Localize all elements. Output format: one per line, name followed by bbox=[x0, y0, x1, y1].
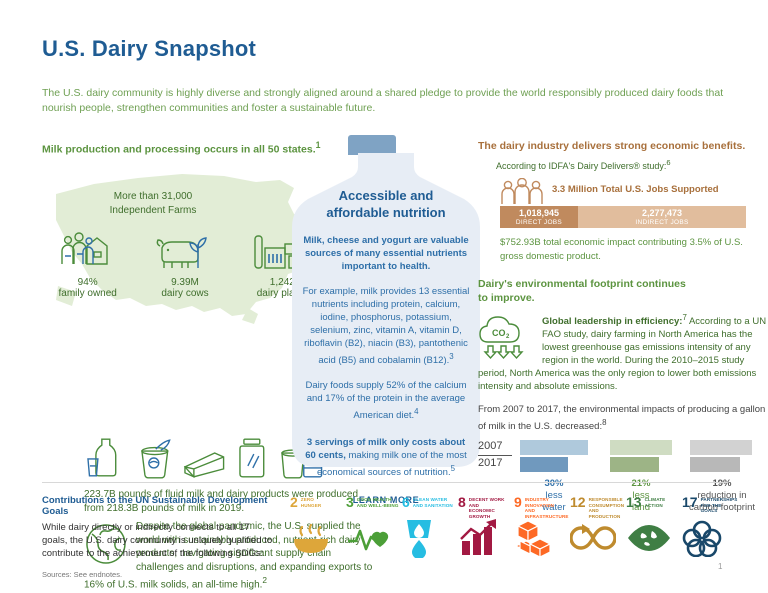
jug-paragraph-4: 3 servings of milk only costs about 60 c… bbox=[302, 436, 470, 479]
sdg-label-l1: GOOD HEALTH bbox=[357, 497, 392, 502]
sdg-label-l1: CLIMATE bbox=[645, 497, 666, 502]
chart-bar-2017-land bbox=[610, 457, 659, 472]
left-heading-text: Milk production and processing occurs in… bbox=[42, 144, 316, 156]
chart-group-water bbox=[520, 440, 588, 472]
chart-bar-2007-water bbox=[520, 440, 588, 455]
sdg-item-2[interactable]: 2 ZERO HUNGER bbox=[290, 496, 346, 558]
environment-heading: Dairy's environmental footprint continue… bbox=[478, 277, 768, 305]
sdg-item-13[interactable]: 13 CLIMATE ACTION bbox=[626, 496, 682, 558]
sdg-number: 12 bbox=[570, 496, 586, 509]
page-number: 1 bbox=[718, 562, 722, 571]
sdg-head: 13 CLIMATE ACTION bbox=[626, 496, 682, 514]
sdg-label-l2: HUNGER bbox=[301, 503, 322, 508]
sdg-item-9[interactable]: 9 INDUSTRY INNOVATION AND INFRASTRUCTURE bbox=[514, 496, 570, 558]
jobs-bar-indirect: 2,277,473 INDIRECT JOBS bbox=[578, 206, 746, 228]
farm-family-icon bbox=[50, 228, 125, 274]
jobs-total-row: 3.3 Million Total U.S. Jobs Supported bbox=[500, 180, 768, 202]
farm-stat-value: 9.39M bbox=[147, 277, 222, 288]
economic-subnote: According to IDFA's Dairy Delivers® stud… bbox=[496, 158, 768, 171]
sdg-label-l2: AND WELL-BEING bbox=[357, 503, 399, 508]
jug-heading-line2: affordable nutrition bbox=[326, 205, 445, 220]
people-group-icon bbox=[500, 178, 548, 204]
jug-cap-icon bbox=[348, 135, 396, 155]
sdg-head: 6 CLEAN WATER AND SANITATION bbox=[402, 496, 458, 514]
farm-stats-row: 94% family owned bbox=[50, 228, 320, 299]
sources-note: Sources: See endnotes. bbox=[42, 570, 274, 579]
farm-stat-label: family owned bbox=[50, 288, 125, 299]
us-map-block: More than 31,000 Independent Farms bbox=[42, 166, 330, 341]
sdg-label-l2: AND INFRASTRUCTURE bbox=[525, 508, 569, 519]
sdg-number: 2 bbox=[290, 496, 298, 509]
bowl-steam-icon bbox=[290, 518, 346, 558]
sdg-label-l2: AND PRODUCTION bbox=[589, 508, 621, 519]
sdg-item-17[interactable]: 17 PARTNERSHIPS FOR THE GOALS bbox=[682, 496, 738, 558]
chart-bar-2007-carbon bbox=[690, 440, 752, 455]
sdg-item-8[interactable]: 8 DECENT WORK AND ECONOMIC GROWTH bbox=[458, 496, 514, 558]
footer-heading: Contributions to the UN Sustainable Deve… bbox=[42, 495, 274, 517]
sdg-label-l1: INDUSTRY INNOVATION bbox=[525, 497, 554, 508]
environment-paragraph: CO 2 Global leadership in efficiency:7 A… bbox=[478, 311, 768, 393]
map-caption: More than 31,000 Independent Farms bbox=[78, 190, 228, 218]
jug-paragraph-4-sup: 5 bbox=[451, 464, 455, 473]
environment-heading-line1: Dairy's environmental footprint continue… bbox=[478, 278, 686, 290]
cheese-wedge-icon bbox=[181, 435, 227, 481]
farm-stat-label: dairy cows bbox=[147, 288, 222, 299]
cubes-icon bbox=[514, 518, 570, 558]
sdg-label: RESPONSIBLE CONSUMPTION AND PRODUCTION bbox=[589, 496, 626, 519]
chart-bar-2017-water bbox=[520, 457, 568, 472]
chart-title-sup: 8 bbox=[602, 418, 606, 427]
jug-paragraph-2-text: For example, milk provides 13 essential … bbox=[303, 286, 470, 366]
infographic-page: U.S. Dairy Snapshot The U.S. dairy commu… bbox=[0, 0, 768, 593]
left-column: Milk production and processing occurs in… bbox=[42, 140, 330, 341]
svg-text:2: 2 bbox=[506, 334, 510, 340]
intro-paragraph: The U.S. dairy community is highly diver… bbox=[42, 86, 730, 116]
economic-subnote-text: According to IDFA's Dairy Delivers® stud… bbox=[496, 161, 666, 171]
sdg-label-l1: RESPONSIBLE CONSUMPTION bbox=[589, 497, 625, 508]
jug-paragraph-2: For example, milk provides 13 essential … bbox=[302, 285, 470, 367]
left-heading: Milk production and processing occurs in… bbox=[42, 140, 330, 156]
chart-title: From 2007 to 2017, the environmental imp… bbox=[478, 403, 768, 433]
chart-pct-water: 30% bbox=[520, 478, 588, 490]
sdg-label-l2: ACTION bbox=[645, 503, 663, 508]
map-caption-line2: Independent Farms bbox=[110, 205, 197, 216]
footer-text: While dairy directly or indirectly conne… bbox=[42, 521, 274, 560]
milk-bottle-icon bbox=[86, 435, 126, 481]
jobs-direct-number: 1,018,945 bbox=[519, 208, 559, 218]
chart-bar-2017-carbon bbox=[690, 457, 740, 472]
water-glass-icon bbox=[402, 518, 458, 558]
sdg-label: ZERO HUNGER bbox=[301, 496, 322, 508]
jug-paragraph-1: Milk, cheese and yogurt are valuable sou… bbox=[302, 234, 470, 273]
growth-chart-icon bbox=[458, 518, 514, 558]
infinity-icon bbox=[570, 518, 626, 558]
economic-subnote-sup: 6 bbox=[666, 158, 670, 167]
sdg-label: GOOD HEALTH AND WELL-BEING bbox=[357, 496, 399, 508]
chart-year-divider bbox=[478, 455, 512, 456]
yogurt-cup-icon bbox=[134, 435, 174, 481]
heartbeat-icon bbox=[346, 518, 402, 558]
chart-year-2017: 2017 bbox=[478, 457, 502, 469]
sdg-label-l1: DECENT WORK AND bbox=[469, 497, 505, 508]
sdg-item-6[interactable]: 6 CLEAN WATER AND SANITATION bbox=[402, 496, 458, 558]
sdg-number: 13 bbox=[626, 496, 642, 509]
co2-cloud-icon: CO 2 bbox=[478, 312, 534, 360]
sdg-head: 8 DECENT WORK AND ECONOMIC GROWTH bbox=[458, 496, 514, 514]
jobs-indirect-caption: INDIRECT JOBS bbox=[635, 218, 688, 227]
jobs-bar-direct: 1,018,945 DIRECT JOBS bbox=[500, 206, 578, 228]
chart-title-text: From 2007 to 2017, the environmental imp… bbox=[478, 404, 765, 432]
sdg-label: CLEAN WATER AND SANITATION bbox=[413, 496, 453, 508]
jobs-indirect-number: 2,277,473 bbox=[642, 208, 682, 218]
right-column: The dairy industry delivers strong econo… bbox=[478, 140, 768, 512]
jug-paragraph-3: Dairy foods supply 52% of the calcium an… bbox=[302, 379, 470, 422]
sdg-number: 3 bbox=[346, 496, 354, 509]
footer-left: Contributions to the UN Sustainable Deve… bbox=[42, 495, 274, 579]
svg-text:CO: CO bbox=[492, 328, 506, 338]
sdg-number: 17 bbox=[682, 496, 698, 509]
dairy-products-icon-row bbox=[86, 435, 326, 481]
sdg-label: CLIMATE ACTION bbox=[645, 496, 666, 508]
sdg-head: 3 GOOD HEALTH AND WELL-BEING bbox=[346, 496, 402, 514]
eye-globe-icon bbox=[626, 518, 682, 558]
sdg-item-3[interactable]: 3 GOOD HEALTH AND WELL-BEING bbox=[346, 496, 402, 558]
chart-group-carbon bbox=[690, 440, 752, 472]
jobs-direct-caption: DIRECT JOBS bbox=[516, 218, 562, 227]
economic-heading: The dairy industry delivers strong econo… bbox=[478, 140, 768, 152]
sdg-head: 12 RESPONSIBLE CONSUMPTION AND PRODUCTIO… bbox=[570, 496, 626, 514]
sdg-item-12[interactable]: 12 RESPONSIBLE CONSUMPTION AND PRODUCTIO… bbox=[570, 496, 626, 558]
protein-jar-icon bbox=[235, 435, 271, 481]
sdg-label: DECENT WORK AND ECONOMIC GROWTH bbox=[469, 496, 514, 519]
jug-heading: Accessible and affordable nutrition bbox=[302, 187, 470, 221]
environment-heading-line2: to improve. bbox=[478, 292, 535, 304]
sdg-label: INDUSTRY INNOVATION AND INFRASTRUCTURE bbox=[525, 496, 570, 519]
chart-group-land bbox=[610, 440, 672, 472]
jug-content: Accessible and affordable nutrition Milk… bbox=[302, 187, 470, 505]
sdg-number: 8 bbox=[458, 496, 466, 509]
sdg-number: 9 bbox=[514, 496, 522, 509]
chart-pct-land: 21% bbox=[610, 478, 672, 490]
farm-stat-family-owned: 94% family owned bbox=[50, 228, 125, 299]
circles-icon bbox=[682, 518, 738, 558]
jobs-bar-chart: 1,018,945 DIRECT JOBS 2,277,473 INDIRECT… bbox=[500, 206, 746, 228]
sdg-label: PARTNERSHIPS FOR THE GOALS bbox=[701, 496, 738, 514]
sdg-label-l1: CLEAN WATER bbox=[413, 497, 447, 502]
jug-paragraph-3-text: Dairy foods supply 52% of the calcium an… bbox=[305, 380, 466, 421]
farm-stat-value: 94% bbox=[50, 277, 125, 288]
sdg-head: 17 PARTNERSHIPS FOR THE GOALS bbox=[682, 496, 738, 514]
jug-paragraph-2-sup: 3 bbox=[449, 352, 453, 361]
sdg-label-l1: ZERO bbox=[301, 497, 314, 502]
sdg-number: 6 bbox=[402, 496, 410, 509]
page-title: U.S. Dairy Snapshot bbox=[42, 36, 256, 62]
jug-heading-line1: Accessible and bbox=[339, 188, 434, 203]
map-caption-line1: More than 31,000 bbox=[114, 191, 192, 202]
sdg-icon-row: 2 ZERO HUNGER 3 GOOD HEALTH bbox=[290, 496, 742, 558]
economic-impact-text: $752.93B total economic impact contribut… bbox=[500, 236, 768, 263]
chart-bar-2007-land bbox=[610, 440, 672, 455]
sdg-label-l2: AND SANITATION bbox=[413, 503, 453, 508]
footer-divider bbox=[42, 482, 728, 483]
environment-lead: Global leadership in efficiency: bbox=[542, 316, 682, 327]
chart-pct-carbon: 19% bbox=[672, 478, 768, 490]
chart-year-2007: 2007 bbox=[478, 440, 502, 452]
jug-paragraph-3-sup: 4 bbox=[414, 407, 418, 416]
milk-jug-panel: Accessible and affordable nutrition Milk… bbox=[292, 135, 480, 467]
jobs-total-label: 3.3 Million Total U.S. Jobs Supported bbox=[552, 184, 719, 195]
farm-stat-dairy-cows: 9.39M dairy cows bbox=[147, 228, 222, 299]
sdg-label-l2: FOR THE GOALS bbox=[701, 503, 722, 514]
sdg-head: 9 INDUSTRY INNOVATION AND INFRASTRUCTURE bbox=[514, 496, 570, 514]
cow-icon bbox=[147, 228, 222, 274]
sdg-head: 2 ZERO HUNGER bbox=[290, 496, 346, 514]
sdg-label-l1: PARTNERSHIPS bbox=[701, 497, 738, 502]
sdg-label-l2: ECONOMIC GROWTH bbox=[469, 508, 495, 519]
